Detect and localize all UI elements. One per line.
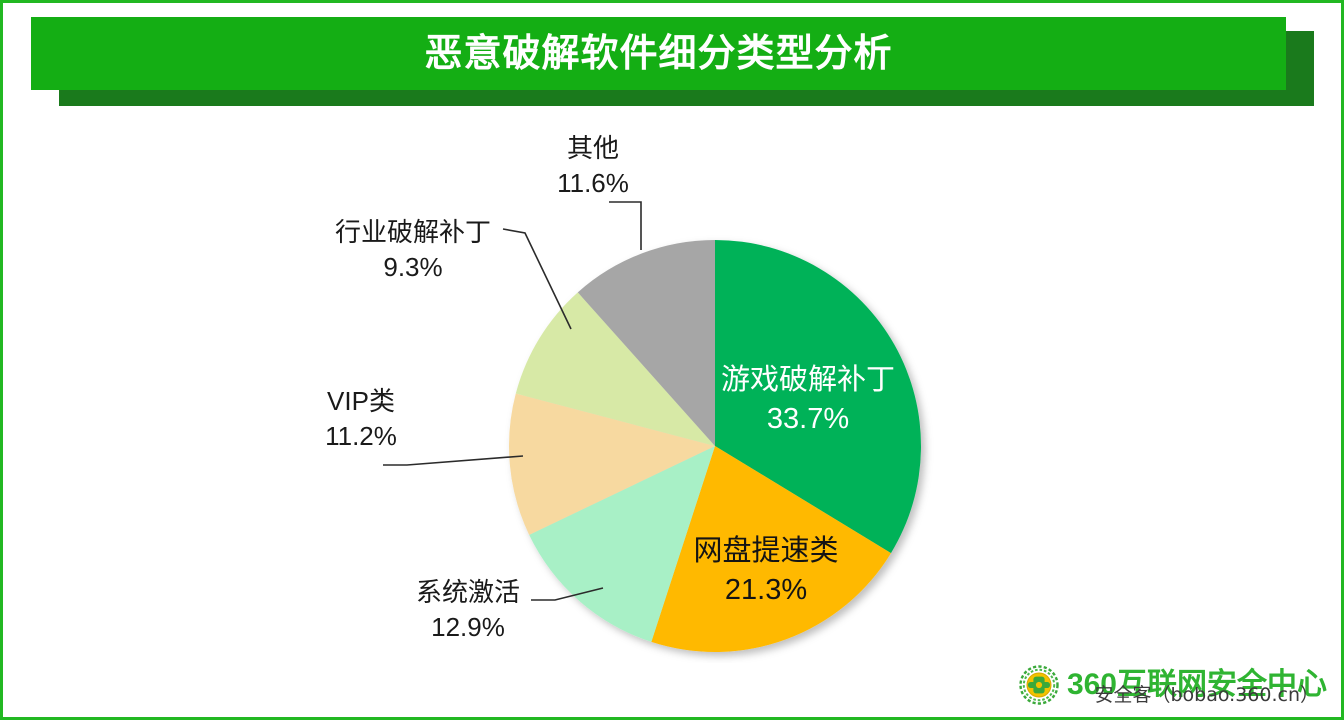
leader-line-other bbox=[609, 202, 641, 250]
callout-vip-percent: 11.2% bbox=[271, 419, 451, 454]
slide-page: 恶意破解软件细分类型分析 bbox=[0, 0, 1344, 720]
360-shield-icon bbox=[1019, 665, 1059, 705]
watermark-text: 安全客（bobao.360.cn） bbox=[1094, 686, 1319, 705]
callout-industry-crack-patch: 行业破解补丁 9.3% bbox=[303, 215, 523, 284]
callout-industry-crack-patch-label: 行业破解补丁 bbox=[303, 215, 523, 250]
callout-other: 其他 11.6% bbox=[473, 131, 713, 200]
page-title: 恶意破解软件细分类型分析 bbox=[424, 35, 892, 73]
slice-label-game-crack-patch-percent: 33.7% bbox=[693, 400, 923, 439]
title-banner: 恶意破解软件细分类型分析 bbox=[31, 17, 1286, 90]
slice-label-netdisk-speedup: 网盘提速类 21.3% bbox=[668, 532, 864, 610]
leader-line-vip bbox=[383, 456, 523, 465]
slice-label-netdisk-speedup-percent: 21.3% bbox=[668, 571, 864, 610]
callout-industry-crack-patch-percent: 9.3% bbox=[303, 250, 523, 285]
callout-system-activation-percent: 12.9% bbox=[373, 610, 563, 645]
callout-vip: VIP类 11.2% bbox=[271, 384, 451, 453]
slice-label-game-crack-patch-name: 游戏破解补丁 bbox=[693, 361, 923, 400]
callout-other-percent: 11.6% bbox=[473, 166, 713, 201]
slice-label-game-crack-patch: 游戏破解补丁 33.7% bbox=[693, 361, 923, 439]
slice-label-netdisk-speedup-name: 网盘提速类 bbox=[668, 532, 864, 571]
callout-other-label: 其他 bbox=[473, 131, 713, 166]
callout-system-activation-label: 系统激活 bbox=[373, 575, 563, 610]
callout-vip-label: VIP类 bbox=[271, 384, 451, 419]
callout-system-activation: 系统激活 12.9% bbox=[373, 575, 563, 644]
pie-chart: 其他 11.6% 行业破解补丁 9.3% VIP类 11.2% 系统激活 12.… bbox=[3, 103, 1344, 663]
